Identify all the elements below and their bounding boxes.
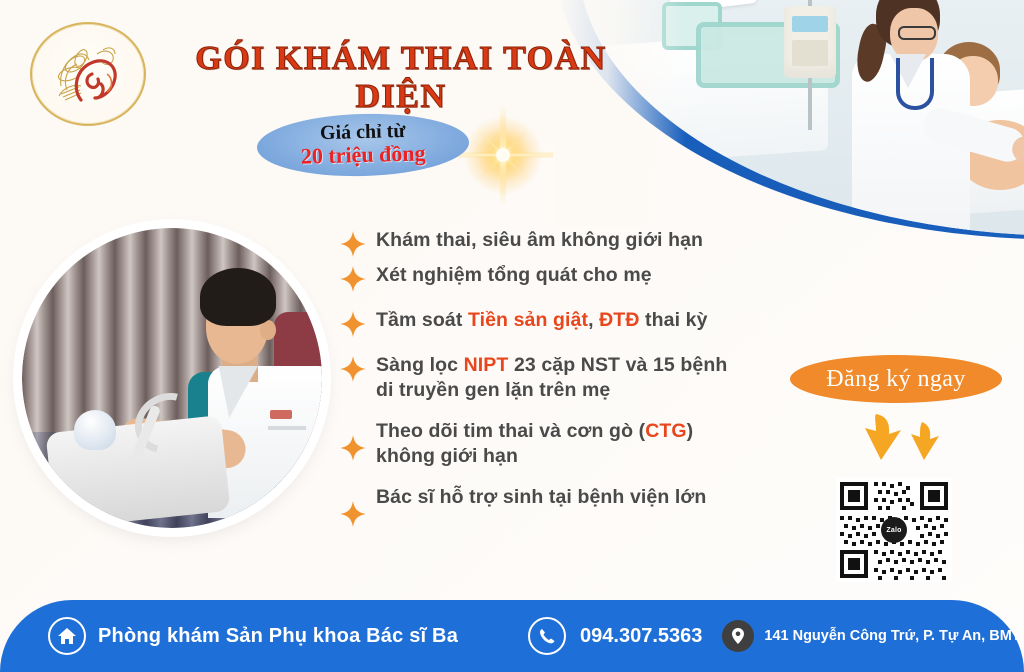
phone-number: 094.307.5363 [580,625,702,648]
location-pin-icon [722,620,754,652]
benefit-item: Theo dõi tim thai và cơn gò (CTG)không g… [374,419,770,469]
benefit-bullet-icon [340,231,366,257]
phone-group[interactable]: 094.307.5363 [528,617,702,655]
clinic-name: Phòng khám Sản Phụ khoa Bác sĩ Ba [98,625,458,648]
register-now-button[interactable]: Đăng ký ngay [790,355,1002,403]
benefit-label: Tầm soát Tiền sản giật, ĐTĐ thai kỳ [376,308,708,333]
price-amount: 20 triệu đồng [301,142,426,169]
ultrasound-doctor-photo [22,228,322,528]
benefit-item: Bác sĩ hỗ trợ sinh tại bệnh viện lớn [374,485,770,527]
benefit-bullet-icon [340,266,366,292]
register-now-label: Đăng ký ngay [826,366,965,393]
four-point-star-bullet-icon [340,501,366,527]
benefit-item: Tầm soát Tiền sản giật, ĐTĐ thai kỳ [340,308,770,337]
benefit-label: Khám thai, siêu âm không giới hạn [376,228,703,253]
sparkle-decoration [451,103,555,207]
zalo-logo-label: Zalo [886,527,901,534]
four-point-star-bullet-icon [340,231,366,257]
four-point-star-bullet-icon [340,311,366,337]
four-point-sparkle-icon [451,103,555,207]
down-arrows-decoration [846,414,948,476]
promo-banner: GÓI KHÁM THAI TOÀN DIỆN [0,0,1024,672]
benefit-label: Bác sĩ hỗ trợ sinh tại bệnh viện lớn [376,485,706,510]
benefit-label: Xét nghiệm tổng quát cho mẹ [376,263,652,288]
benefits-list: Khám thai, siêu âm không giới hạnXét ngh… [340,228,770,533]
price-badge: Giá chỉ từ 20 triệu đồng [256,111,470,179]
double-down-arrow-icon [846,414,948,476]
four-point-star-bullet-icon [340,435,366,461]
four-point-star-bullet-icon [340,266,366,292]
benefit-label: Sàng lọc NIPT 23 cặp NST và 15 bệnhdi tr… [376,353,727,403]
zalo-logo: Zalo [881,517,907,543]
benefit-item: Sàng lọc NIPT 23 cặp NST và 15 bệnhdi tr… [340,353,770,403]
four-point-star-bullet-icon [340,356,366,382]
benefit-bullet-icon [340,435,366,461]
benefit-bullet-icon [340,501,366,527]
benefit-bullet-icon [340,356,366,382]
benefit-bullet-icon [340,311,366,337]
phone-icon [528,617,566,655]
mother-and-child-floral-emblem-icon [45,34,131,114]
address-group[interactable]: 141 Nguyễn Công Trứ, P. Tự An, BMT [722,620,1020,652]
contact-footer: Phòng khám Sản Phụ khoa Bác sĩ Ba 094.30… [0,600,1024,672]
home-icon [48,617,86,655]
clinic-name-group: Phòng khám Sản Phụ khoa Bác sĩ Ba [48,617,458,655]
benefit-item: Khám thai, siêu âm không giới hạn [340,228,770,257]
benefit-item: Xét nghiệm tổng quát cho mẹ [340,263,770,292]
zalo-qr-code[interactable]: Zalo [836,478,952,582]
banner-title: GÓI KHÁM THAI TOÀN DIỆN [166,40,636,116]
clinic-address: 141 Nguyễn Công Trứ, P. Tự An, BMT [764,628,1020,644]
benefit-label: Theo dõi tim thai và cơn gò (CTG)không g… [376,419,693,469]
clinic-logo [30,22,146,126]
